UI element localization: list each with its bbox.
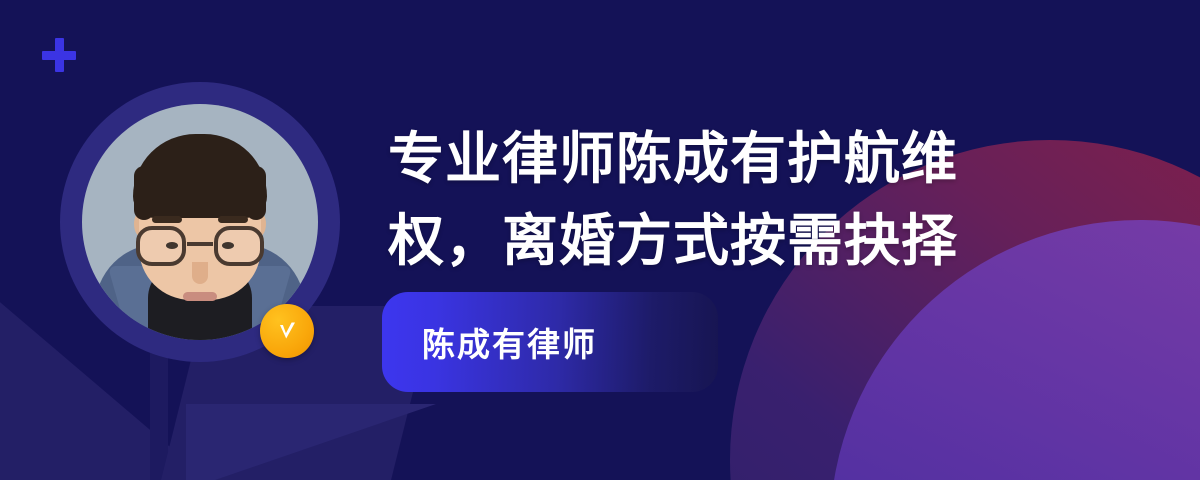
portrait-eyebrow-right	[218, 216, 248, 223]
glasses-icon	[136, 226, 264, 266]
verified-badge-icon	[260, 304, 314, 358]
portrait-hair-side-right	[246, 166, 266, 220]
avatar	[60, 82, 340, 362]
portrait-hair-side-left	[134, 166, 154, 220]
portrait-nose	[192, 262, 208, 284]
glasses-bridge	[187, 242, 213, 246]
plus-icon	[42, 38, 76, 72]
glasses-lens-right	[214, 226, 264, 266]
portrait-eyebrow-left	[152, 216, 182, 223]
portrait-mouth	[183, 292, 217, 301]
lawyer-name-button[interactable]: 陈成有律师	[382, 292, 718, 392]
page-title: 专业律师陈成有护航维权，离婚方式按需抉择	[388, 118, 1018, 282]
decorative-triangle-right	[186, 404, 436, 480]
lawyer-promo-banner: 专业律师陈成有护航维权，离婚方式按需抉择 陈成有律师	[0, 0, 1200, 480]
glasses-lens-left	[136, 226, 186, 266]
